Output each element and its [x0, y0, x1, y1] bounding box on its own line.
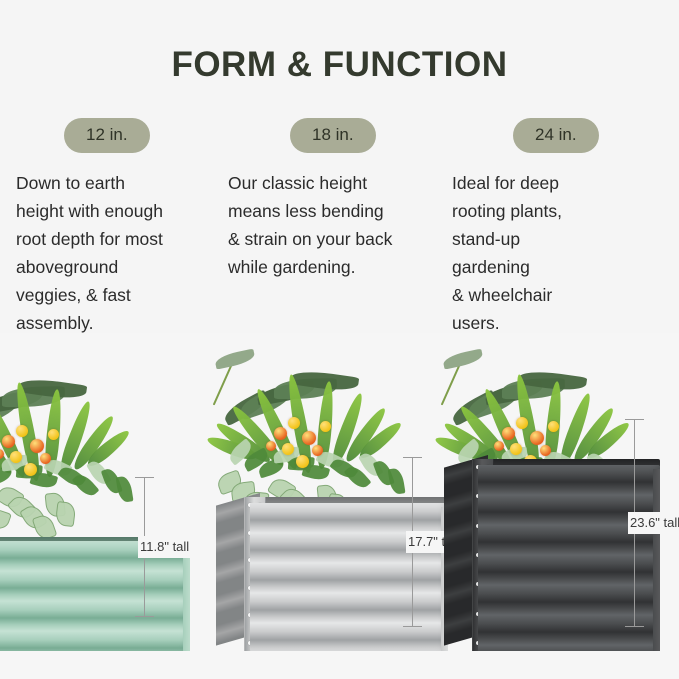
plant-leaf [214, 349, 256, 370]
flower-bloom [30, 439, 44, 453]
palm-frond [229, 403, 288, 470]
plant-leaf [43, 456, 73, 480]
plant-leaf [274, 378, 337, 399]
palm-frond [0, 427, 1, 474]
palm-frond [13, 381, 43, 482]
infographic-root: FORM & FUNCTION 12 in. Down to earth hei… [0, 0, 679, 679]
plant-stem [213, 363, 234, 406]
flower-bloom [288, 417, 300, 429]
plant-leaf [484, 380, 544, 406]
palm-frond [328, 391, 366, 467]
planter-silver [216, 465, 448, 651]
plant-leaf [0, 465, 14, 486]
flower-bloom [16, 425, 28, 437]
palm-frond [252, 386, 301, 471]
palm-frond [342, 405, 389, 465]
palm-frond [285, 373, 315, 474]
palm-frond [0, 394, 29, 479]
size-badge-24in: 24 in. [513, 118, 599, 153]
product-photo-band: 11.8" tall [0, 333, 679, 679]
plant-leaf [442, 349, 484, 370]
flower-bloom [320, 421, 331, 432]
palm-frond [205, 433, 258, 463]
plant-leaf [273, 447, 301, 464]
dimension-cap-bottom [625, 626, 644, 627]
dimension-cap-top [135, 477, 154, 478]
plant-stem [441, 363, 462, 406]
palm-frond [0, 411, 15, 478]
dimension-cap-top [625, 419, 644, 420]
plant-leaf [57, 463, 86, 490]
dimension-cap-bottom [135, 616, 154, 617]
product-image-silver: 17.7" tall [216, 341, 448, 659]
plant-leaf [449, 389, 499, 426]
plant-leaf [0, 392, 22, 428]
planter-front-face [250, 503, 448, 651]
plant-leaf [101, 466, 123, 495]
flower-bloom [266, 441, 276, 451]
flower-bloom [516, 417, 528, 429]
dimension-cap-top [403, 457, 422, 458]
planter-edge-post [183, 545, 190, 651]
page-title: FORM & FUNCTION [0, 44, 679, 86]
product-image-sage-green: 11.8" tall [0, 359, 190, 659]
feature-column-24in: 24 in. Ideal for deep rooting plants, st… [452, 118, 652, 337]
plant-leaf [72, 471, 100, 500]
plant-leaf [29, 470, 58, 490]
size-badge-18in: 18 in. [290, 118, 376, 153]
dimension-label-charcoal: 23.6" tall [628, 512, 679, 534]
plant-leaf [2, 386, 65, 407]
flower-bloom [274, 427, 287, 440]
palm-frond [70, 413, 117, 473]
flower-bloom [302, 431, 316, 445]
planter-edge-post [653, 469, 660, 651]
dimension-line-sage-green: 11.8" tall [144, 477, 145, 617]
flower-bloom [40, 453, 51, 464]
palm-frond [56, 399, 94, 475]
palm-frond [315, 381, 336, 470]
feature-description-24in: Ideal for deep rooting plants, stand-up … [452, 169, 652, 337]
flower-bloom [0, 449, 4, 459]
size-badge-12in: 12 in. [64, 118, 150, 153]
feature-column-12in: 12 in. Down to earth height with enough … [16, 118, 216, 337]
flower-bloom [24, 463, 37, 476]
feature-column-18in: 18 in. Our classic height means less ben… [228, 118, 428, 281]
plant-leaf [16, 464, 43, 480]
feature-description-18in: Our classic height means less bending & … [228, 169, 428, 281]
flower-bloom [282, 443, 294, 455]
plant-leaf [237, 384, 294, 420]
plant-leaf [226, 438, 255, 465]
flower-bloom [48, 429, 59, 440]
plant-leaf [1, 455, 29, 472]
plant-leaf [221, 389, 271, 426]
plant-leaf [290, 368, 360, 393]
plant-leaf [116, 475, 134, 503]
dimension-line-charcoal: 23.6" tall [634, 419, 635, 627]
dimension-label-sage-green: 11.8" tall [138, 536, 191, 558]
plant-leaf [256, 380, 316, 406]
feature-columns: 12 in. Down to earth height with enough … [0, 118, 679, 333]
plant-leaf [502, 378, 565, 399]
palm-frond [43, 389, 64, 478]
flower-bloom [2, 435, 15, 448]
dimension-line-silver: 17.7" tall [412, 457, 413, 627]
flower-bloom [312, 445, 323, 456]
planter-sage-green [0, 503, 190, 651]
plant-leaf [18, 376, 88, 401]
plant-leaf [518, 368, 588, 393]
palm-frond [213, 419, 273, 466]
plant-leaf [0, 388, 44, 414]
plant-leaf [86, 458, 111, 487]
feature-description-12in: Down to earth height with enough root de… [16, 169, 216, 337]
planter-charcoal [444, 429, 660, 651]
palm-frond [356, 419, 404, 462]
palm-frond [84, 427, 132, 470]
planter-front-face [478, 465, 660, 651]
plant-leaf [465, 384, 522, 420]
product-image-charcoal: 23.6" tall [444, 321, 660, 659]
foliage-sage-green [0, 359, 190, 509]
dimension-cap-bottom [403, 626, 422, 627]
flower-bloom [10, 451, 22, 463]
